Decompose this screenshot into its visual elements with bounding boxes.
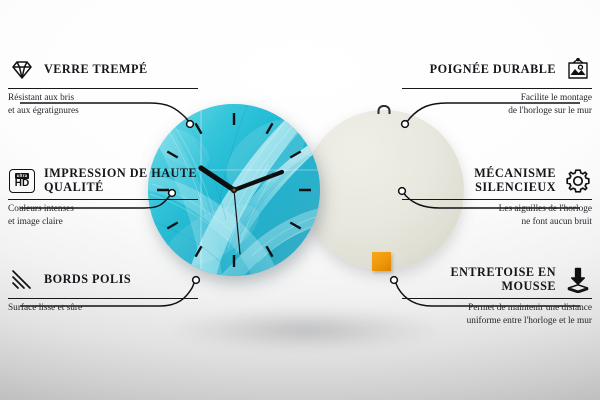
- feature-entretoise-en-mousse: ENTRETOISE EN MOUSSE Permet de maintenir…: [402, 265, 592, 327]
- feature-divider: [8, 298, 198, 299]
- feature-description: Surface lisse et sûre: [8, 302, 198, 314]
- hanging-picture-frame-icon: [564, 56, 592, 84]
- diamond-icon: [8, 56, 36, 84]
- ultra-hd-badge-icon: ultra HD: [8, 167, 36, 195]
- arrow-press-pad-icon: [564, 266, 592, 294]
- feature-mecanisme-silencieux: MÉCANISME SILENCIEUX Les aiguilles de l'…: [402, 166, 592, 228]
- feature-header: VERRE TREMPÉ: [8, 55, 198, 85]
- hour-hand: [201, 168, 234, 190]
- feature-verre-trempe: VERRE TREMPÉ Résistant aux bris et aux é…: [8, 55, 198, 117]
- feature-title: IMPRESSION DE HAUTE QUALITÉ: [44, 167, 198, 194]
- infographic-canvas: VERRE TREMPÉ Résistant aux bris et aux é…: [0, 0, 600, 400]
- feature-header: BORDS POLIS: [8, 265, 198, 295]
- feature-description: Facilite le montage de l'horloge sur le …: [402, 92, 592, 117]
- feature-divider: [8, 88, 198, 89]
- second-hand: [234, 190, 240, 254]
- feature-divider: [402, 88, 592, 89]
- feature-description: Permet de maintenir une distance uniform…: [402, 302, 592, 327]
- feature-header: MÉCANISME SILENCIEUX: [402, 166, 592, 196]
- feature-impression-haute-qualite: ultra HD IMPRESSION DE HAUTE QUALITÉ Cou…: [8, 166, 198, 228]
- hands-center-screw: [233, 189, 236, 192]
- minute-hand: [234, 172, 282, 190]
- feature-description: Résistant aux bris et aux égratignures: [8, 92, 198, 117]
- mechanism-hanger-loop: [378, 105, 391, 114]
- hd-main-label: HD: [15, 179, 29, 189]
- feature-title: VERRE TREMPÉ: [44, 63, 148, 77]
- feature-description: Couleurs intenses et image claire: [8, 203, 198, 228]
- feature-description: Les aiguilles de l'horloge ne font aucun…: [402, 203, 592, 228]
- feature-header: ultra HD IMPRESSION DE HAUTE QUALITÉ: [8, 166, 198, 196]
- polished-edge-lines-icon: [8, 266, 36, 294]
- feature-header: POIGNÉE DURABLE: [402, 55, 592, 85]
- feature-title: POIGNÉE DURABLE: [430, 63, 556, 77]
- feature-title: MÉCANISME SILENCIEUX: [402, 167, 556, 194]
- feature-bords-polis: BORDS POLIS Surface lisse et sûre: [8, 265, 198, 315]
- gear-icon: [564, 167, 592, 195]
- foam-spacer: [372, 252, 391, 271]
- feature-header: ENTRETOISE EN MOUSSE: [402, 265, 592, 295]
- feature-title: BORDS POLIS: [44, 273, 131, 287]
- feature-poignee-durable: POIGNÉE DURABLE Facilite le montage de l…: [402, 55, 592, 117]
- feature-divider: [8, 199, 198, 200]
- feature-divider: [402, 199, 592, 200]
- feature-title: ENTRETOISE EN MOUSSE: [402, 266, 556, 293]
- feature-divider: [402, 298, 592, 299]
